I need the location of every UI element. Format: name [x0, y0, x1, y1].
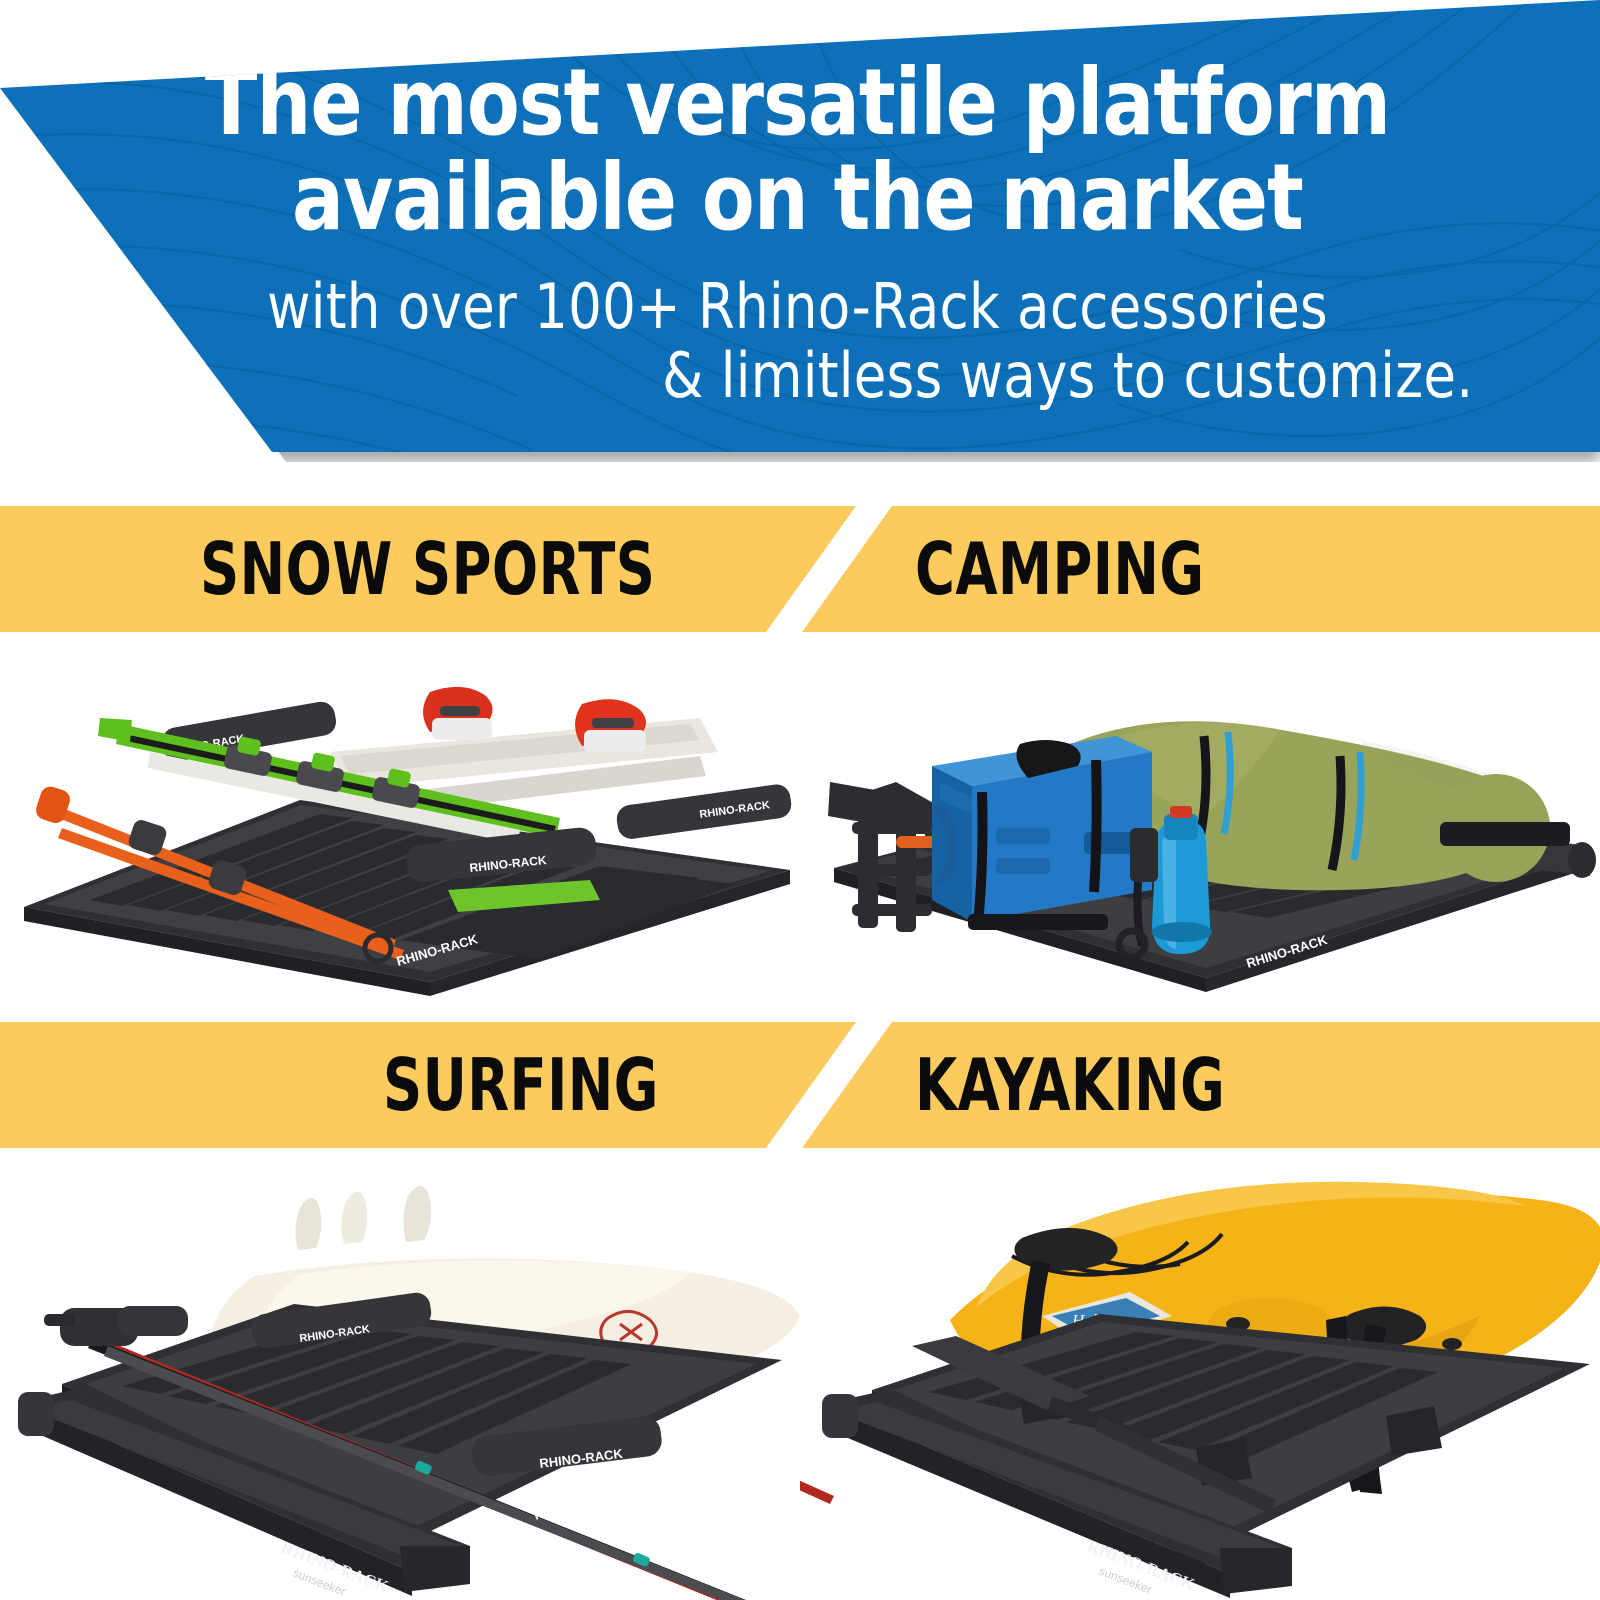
infographic-page: The most versatile platform available on…	[0, 0, 1600, 1600]
subheadline-line-1: with over 100+ Rhino-Rack accessories	[116, 272, 1479, 341]
camping-illustration: RHINO-RACK	[800, 632, 1600, 1022]
binding-1	[423, 687, 493, 740]
category-label-snow-sports: SNOW SPORTS	[200, 506, 655, 632]
binding-2	[575, 699, 646, 752]
hero-subheadline: with over 100+ Rhino-Rack accessories & …	[116, 272, 1479, 411]
photo-kayaking: Hobie	[800, 1148, 1600, 1600]
photo-camping: RHINO-RACK	[800, 632, 1600, 1022]
hero-banner: The most versatile platform available on…	[0, 0, 1600, 470]
hero-headline: The most versatile platform available on…	[130, 56, 1465, 246]
surfing-illustration: RHINO-RACK sunseeker RHINO-RACK	[0, 1148, 800, 1600]
subheadline-line-2: & limitless ways to customize.	[116, 341, 1479, 410]
category-label-row-2: SURFING KAYAKING	[0, 1022, 1600, 1148]
kayaking-illustration: Hobie	[800, 1148, 1600, 1600]
category-label-surfing: SURFING	[383, 1022, 659, 1148]
category-label-camping: CAMPING	[915, 506, 1204, 632]
photo-surfing: RHINO-RACK sunseeker RHINO-RACK	[0, 1148, 800, 1600]
category-label-kayaking: KAYAKING	[915, 1022, 1225, 1148]
snow-sports-illustration: RHINO-RACK RHINO-RACK	[0, 632, 800, 1022]
photo-snow-sports: RHINO-RACK RHINO-RACK	[0, 632, 800, 1022]
headline-line-2: available on the market	[130, 151, 1465, 246]
category-label-row-1: SNOW SPORTS CAMPING	[0, 506, 1600, 632]
